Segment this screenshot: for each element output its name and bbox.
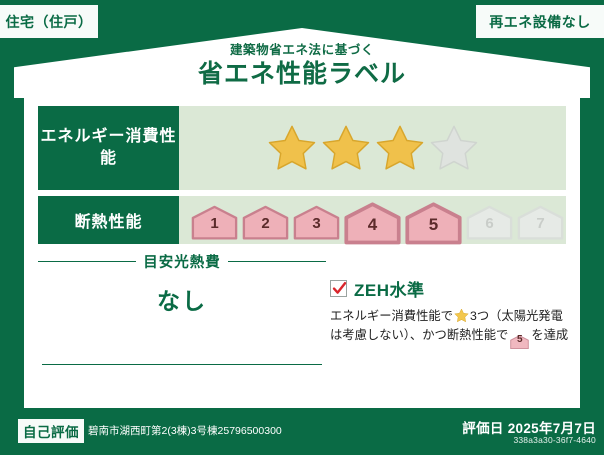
insulation-levels-container: 1234567 xyxy=(179,196,566,244)
star-icon-filled xyxy=(266,123,318,173)
heading-rule-left xyxy=(38,261,136,262)
star-icon-filled xyxy=(320,123,372,173)
zeh-desc-chip-value: 5 xyxy=(517,330,523,350)
insulation-level-chip: 6 xyxy=(466,205,513,235)
zeh-desc-level-chip: 5 xyxy=(510,335,529,350)
title-subtitle: 建築物省エネ法に基づく xyxy=(0,42,604,58)
insulation-level-chip: 4 xyxy=(344,202,401,238)
zeh-desc-part3: を達成 xyxy=(531,328,568,342)
insulation-level-value: 1 xyxy=(210,215,218,235)
zeh-description: エネルギー消費性能で3つ（太陽光発電は考慮しない）、かつ断熱性能で5を達成 xyxy=(330,307,570,350)
heading-rule-right xyxy=(228,261,326,262)
insulation-level-chip: 5 xyxy=(405,202,462,238)
insulation-level-chip: 2 xyxy=(242,205,289,235)
utility-cost-title: 目安光熱費 xyxy=(143,251,221,272)
star-icon-inline xyxy=(454,308,469,323)
badge-renewable-equipment: 再エネ設備なし xyxy=(476,5,604,38)
zeh-desc-part1: エネルギー消費性能で xyxy=(330,309,453,323)
zeh-standard-block: ZEH水準 エネルギー消費性能で3つ（太陽光発電は考慮しない）、かつ断熱性能で5… xyxy=(330,276,570,350)
footer-id-code: 338a3a30-36f7-4640 xyxy=(513,435,596,445)
zeh-checkbox[interactable] xyxy=(330,280,347,297)
insulation-level-chip: 1 xyxy=(191,205,238,235)
check-icon xyxy=(332,281,347,296)
card-bottom-divider xyxy=(42,364,322,365)
title-main: 省エネ性能ラベル xyxy=(0,59,604,90)
zeh-title: ZEH水準 xyxy=(354,276,425,301)
footer-date-value: 2025年7月7日 xyxy=(508,421,596,436)
insulation-level-value: 4 xyxy=(368,215,377,238)
insulation-performance-row: 断熱性能 1234567 xyxy=(38,196,566,244)
label-title-block: 建築物省エネ法に基づく 省エネ性能ラベル xyxy=(0,42,604,90)
insulation-level-chip: 3 xyxy=(293,205,340,235)
insulation-performance-label: 断熱性能 xyxy=(38,196,179,244)
energy-performance-row: エネルギー消費性能 xyxy=(38,106,566,190)
utility-cost-value: なし xyxy=(38,282,326,316)
footer-evaluation-badge: 自己評価 xyxy=(18,419,84,443)
star-icon-empty xyxy=(428,123,480,173)
footer-evaluation-date: 評価日 2025年7月7日 xyxy=(462,417,596,437)
insulation-level-chip: 7 xyxy=(517,205,564,235)
label-footer: 自己評価 碧南市湖西町第2(3棟)3号棟25796500300 評価日 2025… xyxy=(0,408,604,455)
insulation-level-value: 7 xyxy=(536,215,544,235)
energy-stars-container xyxy=(179,106,566,190)
insulation-level-value: 6 xyxy=(485,215,493,235)
label-card: エネルギー消費性能 断熱性能 1234567 目安光熱費 なし ZEH水 xyxy=(24,96,580,408)
insulation-level-value: 3 xyxy=(312,215,320,235)
footer-address: 碧南市湖西町第2(3棟)3号棟25796500300 xyxy=(88,423,282,438)
energy-label-root: 住宅（住戸） 再エネ設備なし 建築物省エネ法に基づく 省エネ性能ラベル エネルギ… xyxy=(0,0,604,455)
footer-date-label: 評価日 xyxy=(462,421,503,436)
utility-cost-heading: 目安光熱費 xyxy=(38,252,326,270)
energy-performance-label: エネルギー消費性能 xyxy=(38,106,179,190)
badge-building-type: 住宅（住戸） xyxy=(0,5,98,38)
zeh-header: ZEH水準 xyxy=(330,276,570,301)
star-icon-filled xyxy=(374,123,426,173)
insulation-level-value: 2 xyxy=(261,215,269,235)
insulation-level-value: 5 xyxy=(429,215,438,238)
